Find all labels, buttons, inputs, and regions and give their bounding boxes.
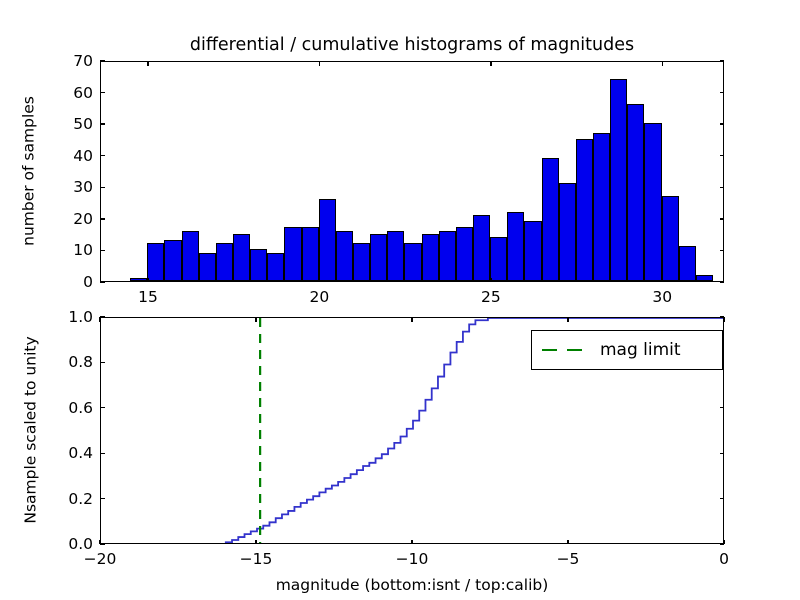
- x-tick-mark: [319, 61, 320, 66]
- y-tick-mark: [720, 453, 725, 454]
- y-tick-mark: [100, 92, 105, 93]
- y-tick-mark: [720, 250, 725, 251]
- y-tick-label: 1.0: [38, 308, 93, 326]
- x-tick-mark: [147, 61, 148, 66]
- y-tick-label: 70: [38, 52, 93, 70]
- x-tick-label: −15: [240, 550, 273, 568]
- chart-title: differential / cumulative histograms of …: [100, 35, 724, 55]
- histogram-bar: [216, 243, 233, 281]
- histogram-bar: [250, 249, 267, 281]
- y-tick-mark: [100, 316, 105, 317]
- y-tick-mark: [720, 187, 725, 188]
- histogram-bar: [696, 275, 713, 281]
- y-tick-label: 10: [38, 241, 93, 259]
- cumulative-histogram-ylabel: Nsample scaled to unity: [21, 316, 39, 543]
- histogram-bar: [199, 253, 216, 281]
- histogram-bar: [559, 183, 576, 281]
- y-tick-mark: [100, 187, 105, 188]
- legend-label-mag-limit: mag limit: [600, 340, 681, 360]
- y-tick-label: 50: [38, 115, 93, 133]
- cumulative-histogram-xlabel: magnitude (bottom:isnt / top:calib): [276, 576, 549, 594]
- x-tick-mark: [99, 317, 100, 322]
- y-tick-mark: [720, 498, 725, 499]
- histogram-bar: [130, 278, 147, 281]
- y-tick-label: 40: [38, 147, 93, 165]
- x-tick-mark: [411, 540, 412, 545]
- legend-dash-segment: [567, 349, 582, 351]
- legend: mag limit: [531, 330, 723, 370]
- histogram-bar: [422, 234, 439, 281]
- differential-histogram-plot-area: [101, 62, 723, 281]
- differential-histogram-ylabel: number of samples: [19, 60, 37, 281]
- histogram-bar: [593, 133, 610, 281]
- x-tick-mark: [319, 278, 320, 283]
- y-tick-mark: [100, 60, 105, 61]
- y-tick-mark: [720, 407, 725, 408]
- histogram-bar: [662, 196, 679, 281]
- histogram-bar: [233, 234, 250, 281]
- y-tick-label: 20: [38, 210, 93, 228]
- y-tick-mark: [100, 407, 105, 408]
- y-tick-mark: [720, 316, 725, 317]
- histogram-bar: [679, 246, 696, 281]
- y-tick-mark: [100, 250, 105, 251]
- x-tick-mark: [567, 540, 568, 545]
- y-tick-mark: [720, 543, 725, 544]
- x-tick-mark: [411, 317, 412, 322]
- y-tick-mark: [720, 123, 725, 124]
- x-tick-label: 0: [719, 550, 729, 568]
- y-tick-mark: [100, 281, 105, 282]
- y-tick-mark: [100, 453, 105, 454]
- y-tick-label: 60: [38, 84, 93, 102]
- legend-dash-segment: [542, 349, 557, 351]
- y-tick-mark: [100, 362, 105, 363]
- histogram-bar: [387, 231, 404, 282]
- x-tick-mark: [490, 61, 491, 66]
- histogram-bar: [576, 139, 593, 281]
- x-tick-label: 30: [652, 288, 672, 306]
- y-tick-mark: [100, 218, 105, 219]
- y-tick-mark: [100, 155, 105, 156]
- histogram-bar: [267, 253, 284, 281]
- histogram-bar: [336, 231, 353, 282]
- y-tick-mark: [720, 60, 725, 61]
- histogram-bar: [284, 227, 301, 281]
- y-tick-label: 0.4: [38, 444, 93, 462]
- differential-histogram-axes: [100, 61, 724, 282]
- y-tick-mark: [100, 123, 105, 124]
- x-tick-label: −5: [557, 550, 580, 568]
- histogram-bar: [302, 227, 319, 281]
- figure-canvas: differential / cumulative histograms of …: [0, 0, 800, 600]
- histogram-bar: [473, 215, 490, 281]
- x-tick-mark: [255, 540, 256, 545]
- x-tick-mark: [662, 278, 663, 283]
- x-tick-label: 20: [310, 288, 330, 306]
- y-tick-mark: [720, 218, 725, 219]
- histogram-bar: [353, 243, 370, 281]
- x-tick-mark: [147, 278, 148, 283]
- x-tick-mark: [662, 61, 663, 66]
- x-tick-mark: [567, 317, 568, 322]
- y-tick-mark: [100, 498, 105, 499]
- y-tick-label: 0: [38, 273, 93, 291]
- x-tick-mark: [255, 317, 256, 322]
- histogram-bar: [370, 234, 387, 281]
- x-tick-mark: [490, 278, 491, 283]
- y-tick-label: 0.8: [38, 353, 93, 371]
- y-tick-label: 30: [38, 178, 93, 196]
- y-tick-mark: [720, 281, 725, 282]
- y-tick-label: 0.6: [38, 399, 93, 417]
- x-tick-label: −10: [396, 550, 429, 568]
- histogram-bar: [490, 237, 507, 281]
- y-tick-mark: [720, 155, 725, 156]
- histogram-bar: [182, 231, 199, 282]
- histogram-bar: [439, 231, 456, 282]
- histogram-bar: [147, 243, 164, 281]
- y-tick-mark: [100, 543, 105, 544]
- histogram-bar: [627, 104, 644, 281]
- histogram-bar: [507, 212, 524, 281]
- histogram-bar: [164, 240, 181, 281]
- mag-limit-dashed-line-icon: [542, 349, 586, 351]
- x-tick-label: 25: [481, 288, 501, 306]
- histogram-bar: [644, 123, 661, 281]
- y-tick-mark: [720, 92, 725, 93]
- histogram-bar: [524, 221, 541, 281]
- histogram-bar: [610, 79, 627, 281]
- histogram-bar: [542, 158, 559, 281]
- x-tick-mark: [723, 317, 724, 322]
- y-tick-label: 0.2: [38, 490, 93, 508]
- histogram-bar: [404, 243, 421, 281]
- histogram-bar: [456, 227, 473, 281]
- x-tick-label: 15: [138, 288, 158, 306]
- y-tick-label: 0.0: [38, 535, 93, 553]
- histogram-bar: [319, 199, 336, 281]
